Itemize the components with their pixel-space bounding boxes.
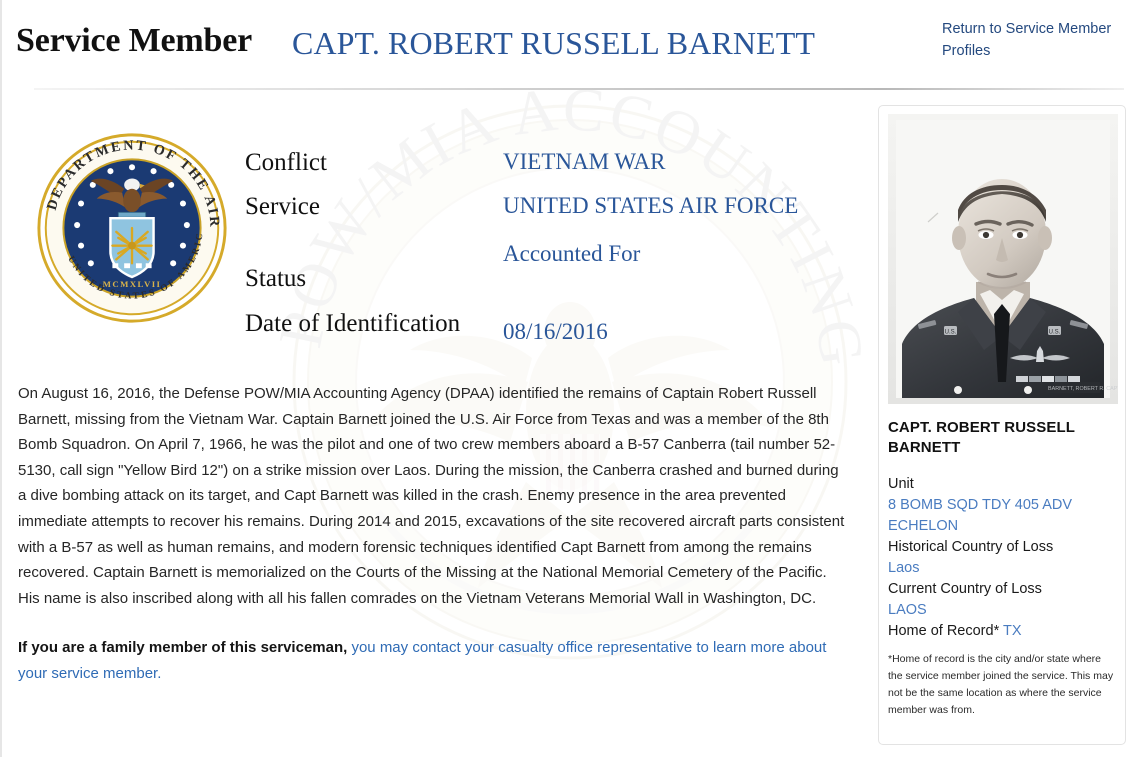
fact-value-date-of-identification: 08/16/2016 [503,318,865,346]
svg-text:U.S.: U.S. [1049,330,1061,336]
fact-label-date-of-identification: Date of Identification [245,310,503,337]
page-title-label: Service Member [16,22,252,60]
card-member-name: CAPT. ROBERT RUSSELL BARNETT [888,418,1116,458]
field-label-home-of-record: Home of Record* [888,623,999,639]
field-label-current-country-of-loss: Current Country of Loss [888,579,1116,600]
field-value-historical-country-of-loss[interactable]: Laos [888,558,1116,579]
service-member-photo: U.S. U.S. [888,114,1118,404]
fact-value-service: UNITED STATES AIR FORCE [503,192,865,219]
field-value-home-of-record[interactable]: TX [1003,623,1022,639]
fact-row-date-of-identification: Date of Identification 08/16/2016 [245,310,865,354]
field-value-unit[interactable]: 8 BOMB SQD TDY 405 ADV ECHELON [888,495,1116,537]
header-divider [34,88,1124,90]
narrative-paragraph: On August 16, 2016, the Defense POW/MIA … [18,381,850,611]
field-value-current-country-of-loss[interactable]: LAOS [888,600,1116,621]
field-label-unit: Unit [888,474,1116,495]
fact-label-conflict: Conflict [245,148,503,178]
fact-label-status: Status [245,264,503,294]
family-member-note: If you are a family member of this servi… [18,635,850,686]
return-to-profiles-link[interactable]: Return to Service Member Profiles [942,18,1122,62]
fact-row-conflict: Conflict VIETNAM WAR [245,148,865,190]
air-force-seal-icon: DEPARTMENT OF THE AIR FORCE UNITED STATE… [34,130,230,326]
service-member-detail-card: U.S. U.S. [878,105,1126,745]
service-member-profile-page: POW/MIA ACCOUNTING AGENCY Service Member… [0,0,1140,757]
field-unit: Unit 8 BOMB SQD TDY 405 ADV ECHELON Hist… [888,474,1116,642]
svg-text:BARNETT, ROBERT R. CAPT: BARNETT, ROBERT R. CAPT [1048,386,1118,392]
fact-value-status: Accounted For [503,240,865,268]
service-member-facts: Conflict VIETNAM WAR Service UNITED STAT… [245,148,865,356]
fact-value-conflict: VIETNAM WAR [503,148,865,176]
fact-label-service: Service [245,192,503,222]
fact-row-status: Status Accounted For [245,264,865,308]
field-label-historical-country-of-loss: Historical Country of Loss [888,537,1116,558]
field-home-of-record: Home of Record* TX [888,621,1116,642]
service-member-name-heading: CAPT. ROBERT RUSSELL BARNETT [292,25,815,62]
svg-text:MCMXLVII: MCMXLVII [103,279,162,289]
family-note-lead: If you are a family member of this servi… [18,639,347,656]
page-header: Service Member CAPT. ROBERT RUSSELL BARN… [2,0,1140,88]
home-of-record-footnote: *Home of record is the city and/or state… [888,651,1116,719]
svg-text:U.S.: U.S. [945,330,957,336]
